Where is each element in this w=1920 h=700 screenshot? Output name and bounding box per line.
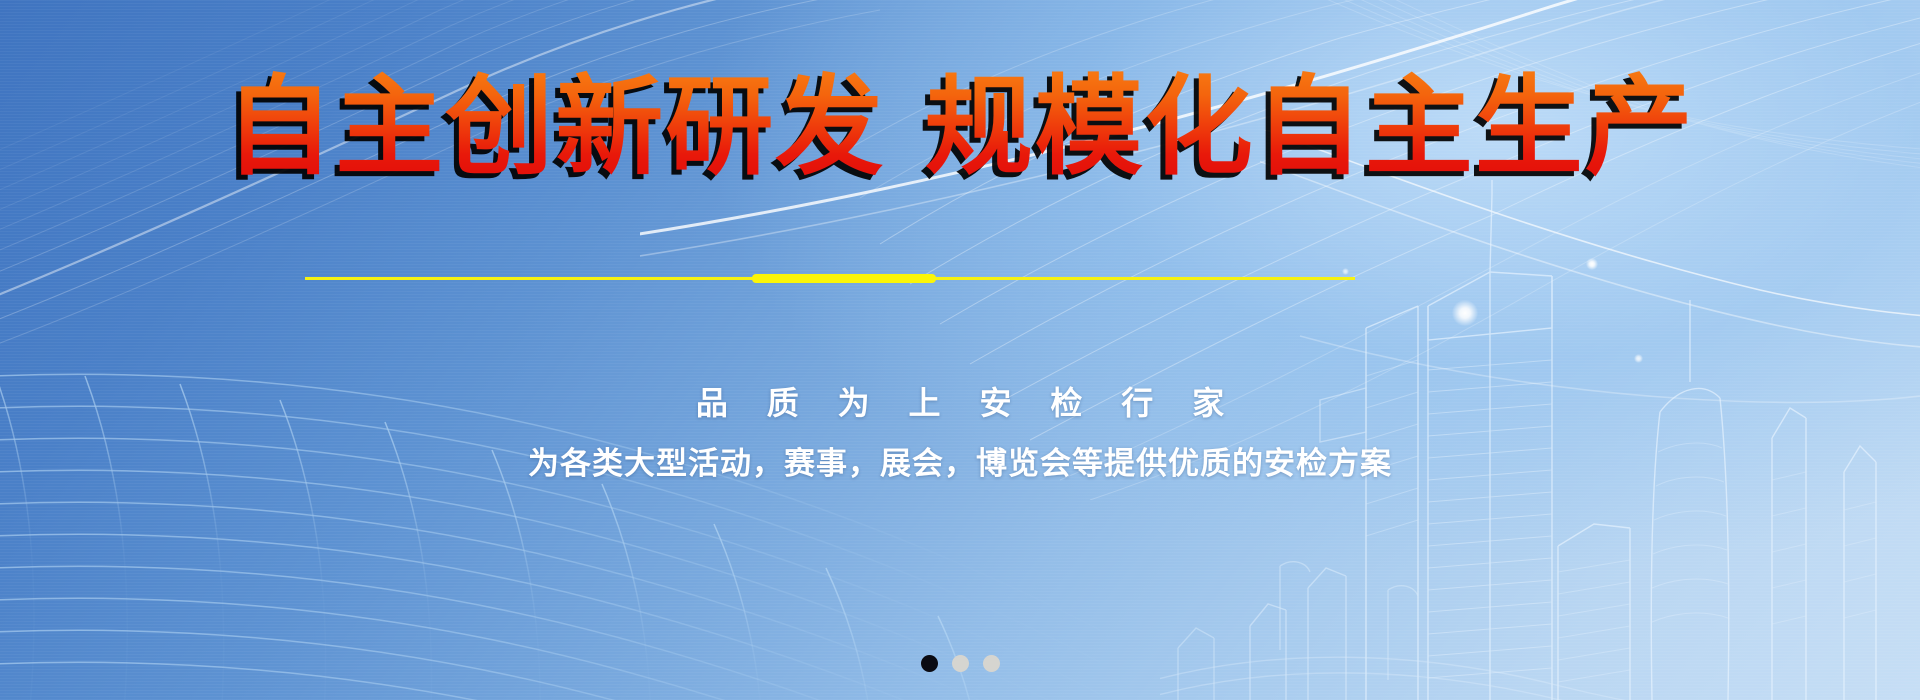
- carousel-dot-1[interactable]: [921, 655, 938, 672]
- carousel-dot-3[interactable]: [983, 655, 1000, 672]
- carousel-dots[interactable]: [0, 655, 1920, 672]
- divider: [0, 274, 1920, 284]
- divider-core-highlight: [752, 274, 936, 283]
- carousel-dot-2[interactable]: [952, 655, 969, 672]
- slogan-primary: 品 质 为 上 安 检 行 家: [0, 378, 1920, 424]
- slogan-secondary: 为各类大型活动，赛事，展会，博览会等提供优质的安检方案: [0, 438, 1920, 483]
- banner-content: 自主创新研发 规模化自主生产 品 质 为 上 安 检 行 家 为各类大型活动，赛…: [0, 0, 1920, 700]
- hero-banner: 自主创新研发 规模化自主生产 品 质 为 上 安 检 行 家 为各类大型活动，赛…: [0, 0, 1920, 700]
- page-title: 自主创新研发 规模化自主生产: [0, 68, 1920, 189]
